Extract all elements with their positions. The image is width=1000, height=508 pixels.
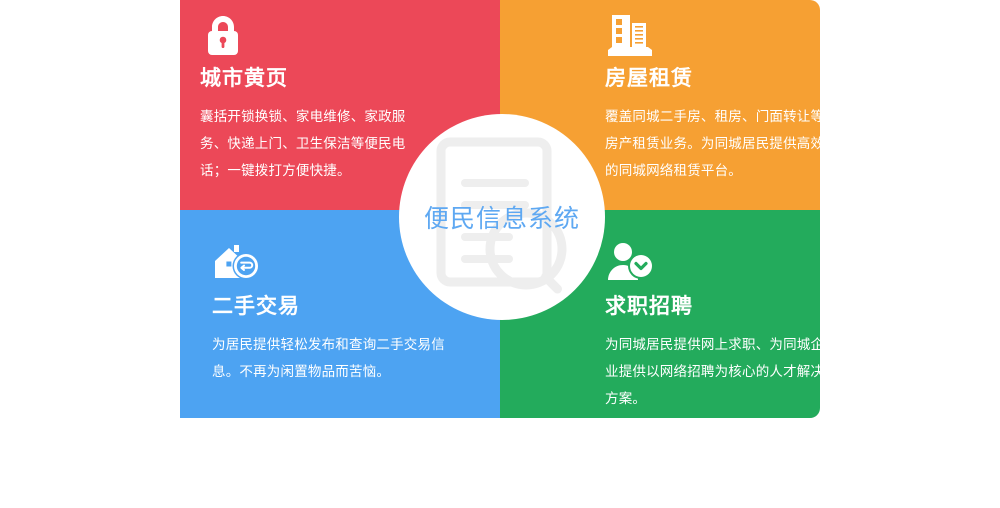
infographic-canvas: 城市黄页 囊括开锁换锁、家电维修、家政服务、快递上门、卫生保洁等便民电话；一键拨…: [0, 0, 1000, 508]
panel-description: 囊括开锁换锁、家电维修、家政服务、快递上门、卫生保洁等便民电话；一键拨打方便快捷…: [200, 103, 432, 184]
panel-description: 为同城居民提供网上求职、为同城企业提供以网络招聘为核心的人才解决方案。: [605, 331, 820, 412]
panel-content: 城市黄页 囊括开锁换锁、家电维修、家政服务、快递上门、卫生保洁等便民电话；一键拨…: [200, 12, 432, 184]
panel-title: 房屋租赁: [605, 66, 820, 91]
panel-description: 为居民提供轻松发布和查询二手交易信息。不再为闲置物品而苦恼。: [212, 331, 460, 385]
panel-title: 求职招聘: [605, 294, 820, 319]
panel-content: 房屋租赁 覆盖同城二手房、租房、门面转让等房产租赁业务。为同城居民提供高效的同城…: [605, 12, 820, 184]
person-check-icon: [605, 240, 820, 286]
building-icon: [605, 12, 820, 58]
panel-title: 二手交易: [212, 294, 460, 319]
center-hub-label: 便民信息系统: [399, 199, 605, 235]
center-hub-circle: 便民信息系统: [399, 114, 605, 320]
panel-title: 城市黄页: [200, 66, 432, 91]
lock-icon: [200, 12, 432, 58]
panel-description: 覆盖同城二手房、租房、门面转让等房产租赁业务。为同城居民提供高效的同城网络租赁平…: [605, 103, 820, 184]
panel-content: 求职招聘 为同城居民提供网上求职、为同城企业提供以网络招聘为核心的人才解决方案。: [605, 240, 820, 412]
